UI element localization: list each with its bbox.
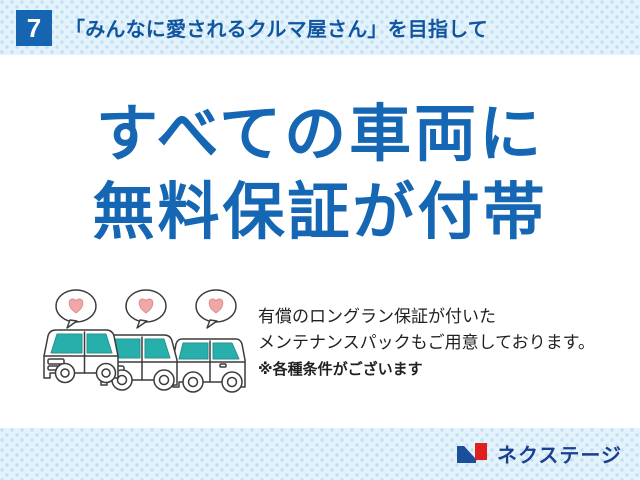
- body-copy: 有償のロングラン保証が付いた メンテナンスパックもご用意しております。 ※各種条…: [258, 304, 638, 382]
- section-number-badge: 7: [16, 10, 52, 46]
- heart-bubble-2: [126, 290, 166, 328]
- car-suv-right: [173, 339, 245, 392]
- brand-name: ネクステージ: [497, 439, 622, 468]
- headline-block: すべての車両に 無料保証が付帯: [0, 95, 640, 251]
- heart-bubble-1: [56, 290, 96, 328]
- heart-bubble-3: [196, 290, 236, 328]
- body-copy-line-1: 有償のロングラン保証が付いた: [258, 304, 638, 330]
- header-title: 「みんなに愛されるクルマ屋さん」を目指して: [65, 13, 488, 42]
- nexstage-n-mark-icon: [456, 441, 488, 465]
- cars-illustration-svg: [40, 286, 255, 406]
- body-copy-note: ※各種条件がございます: [258, 356, 638, 382]
- lower-content: 有償のロングラン保証が付いた メンテナンスパックもご用意しております。 ※各種条…: [0, 286, 640, 416]
- header: 7 「みんなに愛されるクルマ屋さん」を目指して: [0, 0, 640, 55]
- brand-logo: ネクステージ: [456, 436, 622, 470]
- car-wagon-left: [44, 330, 118, 383]
- slide-canvas: 7 「みんなに愛されるクルマ屋さん」を目指して すべての車両に 無料保証が付帯: [0, 0, 640, 480]
- cars-illustration: [40, 286, 255, 406]
- headline-line-2: 無料保証が付帯: [0, 173, 640, 251]
- body-copy-line-2: メンテナンスパックもご用意しております。: [258, 330, 638, 356]
- headline-line-1: すべての車両に: [0, 95, 640, 173]
